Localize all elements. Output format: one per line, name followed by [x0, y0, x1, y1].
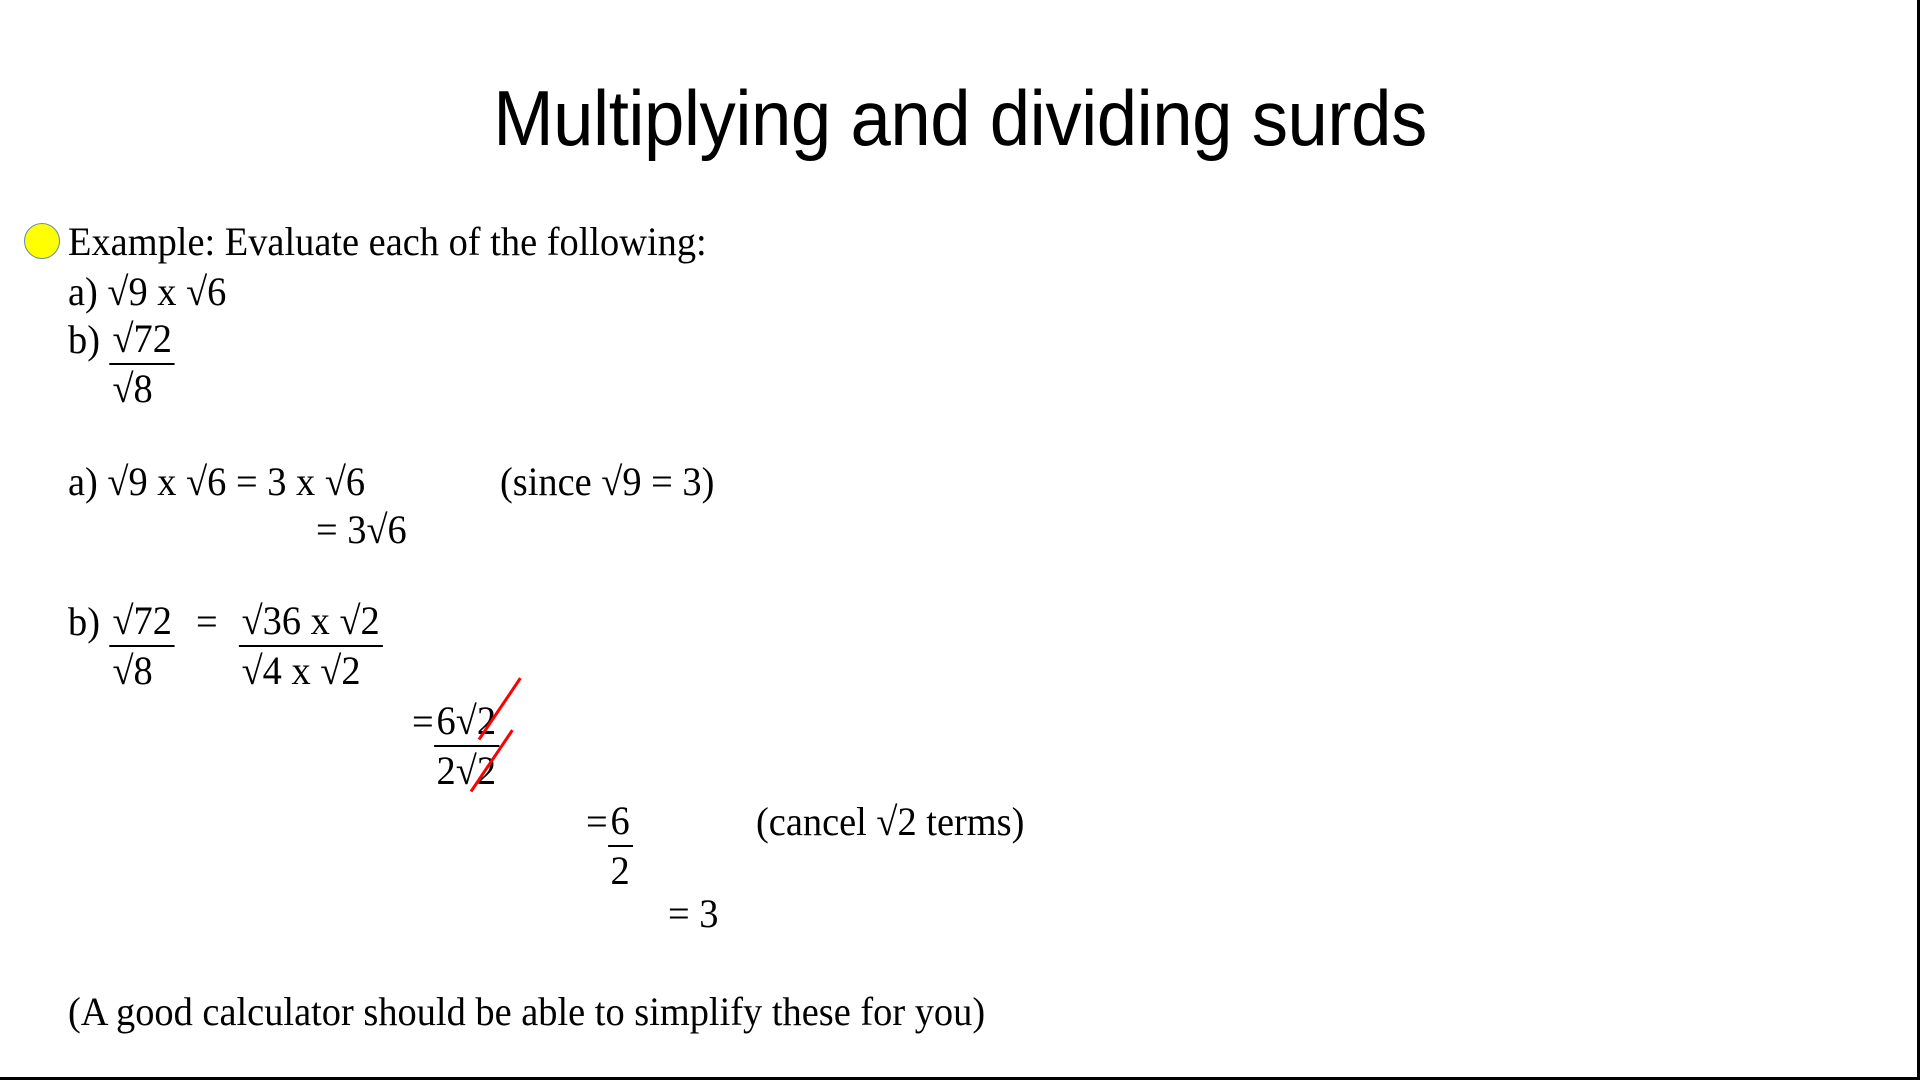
answer-b-equals: = [196, 598, 218, 646]
bullet-marker-icon [24, 223, 60, 259]
intro-text: Example: Evaluate each of the following: [68, 218, 707, 266]
answer-b-right-numerator: √36 x √2 [239, 598, 383, 647]
answer-b-right-denominator: √4 x √2 [239, 647, 383, 695]
question-b-denominator: √8 [110, 365, 175, 413]
answer-b-left-fraction: √72 √8 [110, 598, 175, 695]
answer-b-step2-fraction: 6√2 2√2 [434, 698, 499, 795]
answer-b-step3-numerator: 6 [608, 798, 633, 847]
slide: Multiplying and dividing surds Example: … [0, 0, 1920, 1080]
question-b-numerator: √72 [110, 316, 175, 365]
question-a: a) √9 x √6 [68, 268, 226, 316]
answer-b-left-denominator: √8 [110, 647, 175, 695]
slide-body: Example: Evaluate each of the following:… [0, 0, 1920, 1080]
question-b-label: b) [68, 316, 100, 364]
footnote: (A good calculator should be able to sim… [68, 988, 985, 1036]
answer-b-right-fraction: √36 x √2 √4 x √2 [239, 598, 383, 695]
answer-b-step1: b) √72 √8 = √36 x √2 √4 x √2 [68, 598, 383, 695]
answer-b-step3: = 6 2 [586, 798, 633, 895]
answer-a-line1: a) √9 x √6 = 3 x √6 [68, 458, 365, 506]
answer-b-step3-denominator: 2 [608, 847, 633, 895]
answer-a-note: (since √9 = 3) [500, 458, 714, 506]
answer-b-step2-denominator: 2√2 [434, 747, 499, 795]
answer-b-label: b) [68, 598, 100, 646]
question-b-fraction: √72 √8 [110, 316, 175, 413]
answer-b-step3-note: (cancel √2 terms) [756, 798, 1024, 846]
answer-b-step2-equals: = [412, 698, 434, 746]
answer-b-step3-fraction: 6 2 [608, 798, 633, 895]
question-b: b) √72 √8 [68, 316, 175, 413]
answer-b-step3-equals: = [586, 798, 608, 846]
answer-b-left-numerator: √72 [110, 598, 175, 647]
answer-a-line2: = 3√6 [316, 506, 407, 554]
answer-b-final: = 3 [668, 890, 718, 938]
answer-b-step2: = 6√2 2√2 [412, 698, 499, 795]
